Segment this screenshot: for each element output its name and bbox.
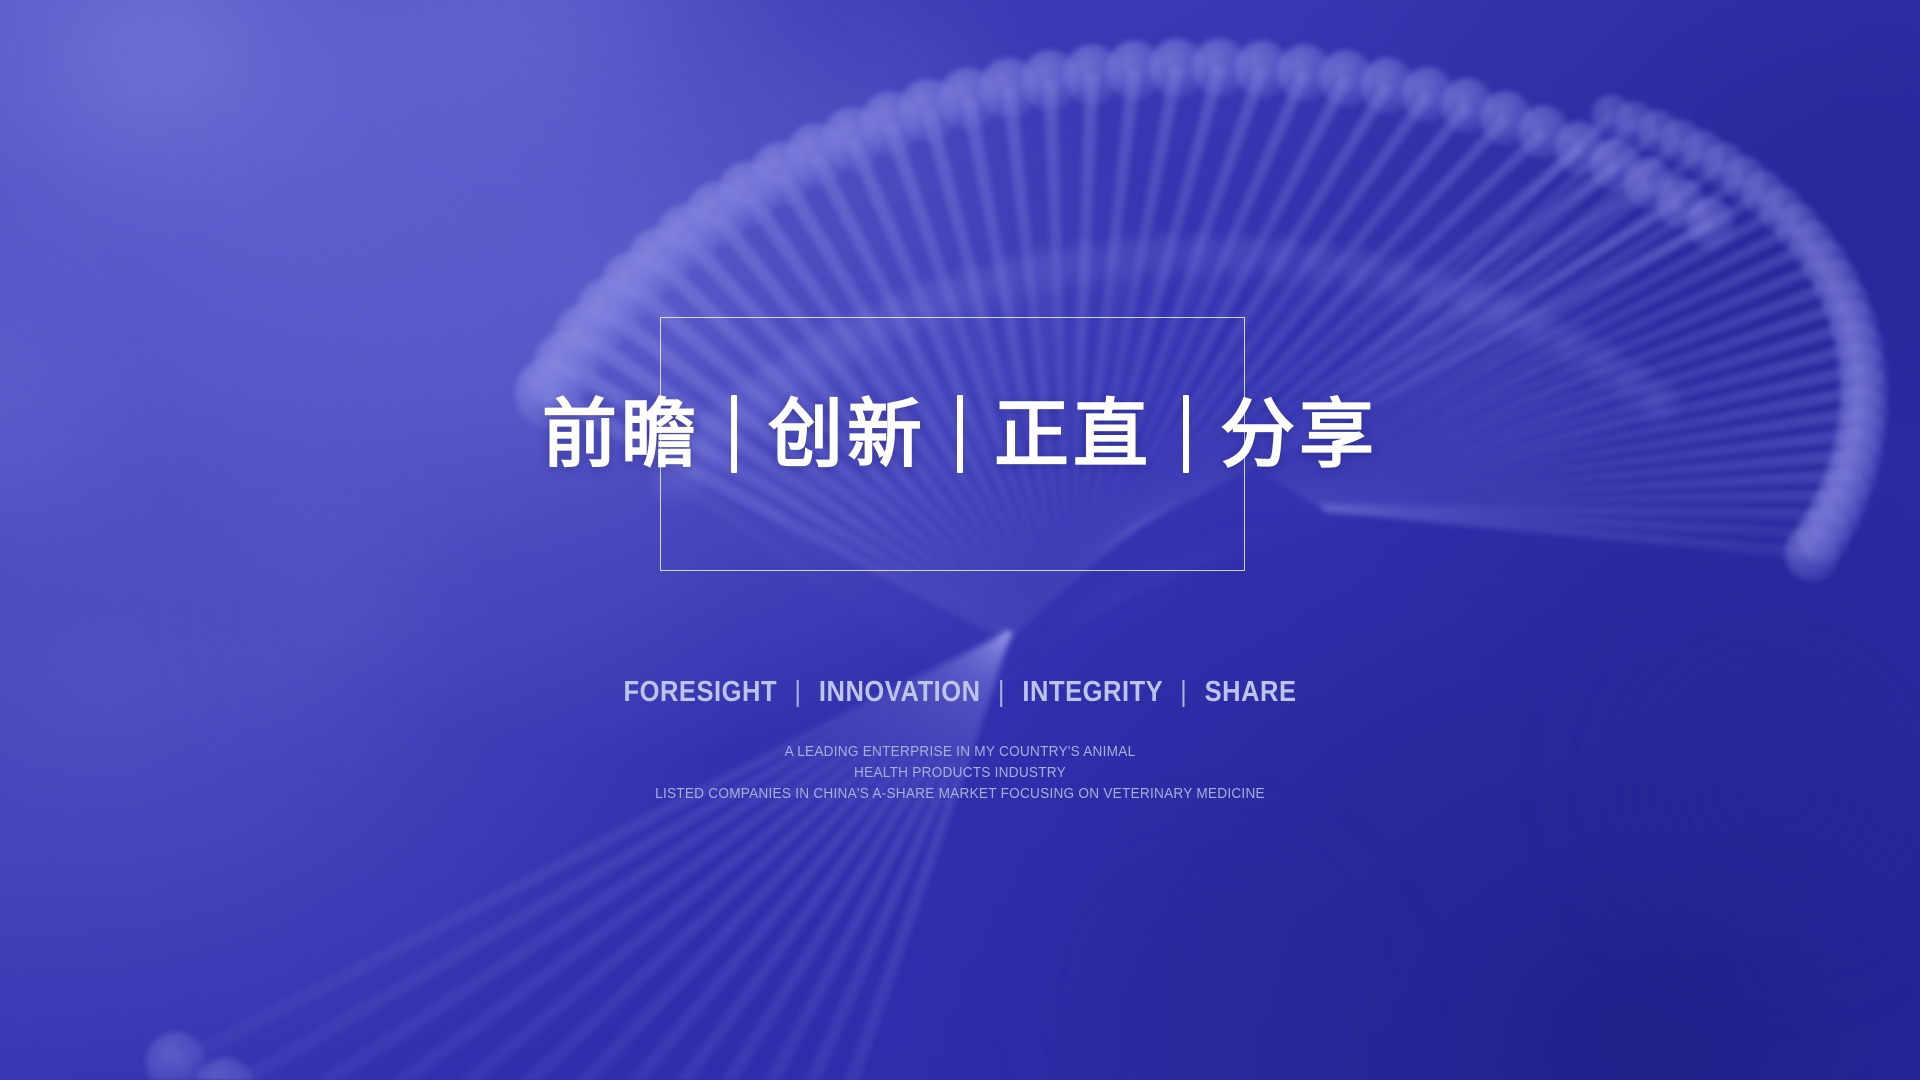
tagline-word-3: INTEGRITY <box>1022 676 1162 708</box>
tagline-separator-1: | <box>785 676 812 709</box>
headline-values: 前瞻 创新 正直 分享 <box>0 382 1920 486</box>
headline-word-1: 前瞻 <box>542 397 700 472</box>
caption-line-3: LISTED COMPANIES IN CHINA'S A-SHARE MARK… <box>58 784 1863 805</box>
slide-canvas: 前瞻 创新 正直 分享 FORESIGHT | INNOVATION | INT… <box>0 0 1920 1080</box>
tagline-values-english: FORESIGHT | INNOVATION | INTEGRITY | SHA… <box>115 676 1805 709</box>
caption-block: A LEADING ENTERPRISE IN MY COUNTRY'S ANI… <box>58 742 1863 805</box>
headline-separator-2 <box>957 395 963 473</box>
tagline-separator-3: | <box>1170 676 1197 709</box>
tagline-word-1: FORESIGHT <box>623 676 777 708</box>
caption-line-2: HEALTH PRODUCTS INDUSTRY <box>58 763 1863 784</box>
headline-word-2: 创新 <box>768 397 926 472</box>
headline-separator-1 <box>731 395 737 473</box>
caption-line-1: A LEADING ENTERPRISE IN MY COUNTRY'S ANI… <box>58 742 1863 763</box>
tagline-word-2: INNOVATION <box>819 676 981 708</box>
tagline-word-4: SHARE <box>1205 676 1297 708</box>
headline-word-4: 分享 <box>1220 397 1378 472</box>
headline-word-3: 正直 <box>994 397 1152 472</box>
tagline-separator-2: | <box>988 676 1015 709</box>
headline-separator-3 <box>1183 395 1189 473</box>
